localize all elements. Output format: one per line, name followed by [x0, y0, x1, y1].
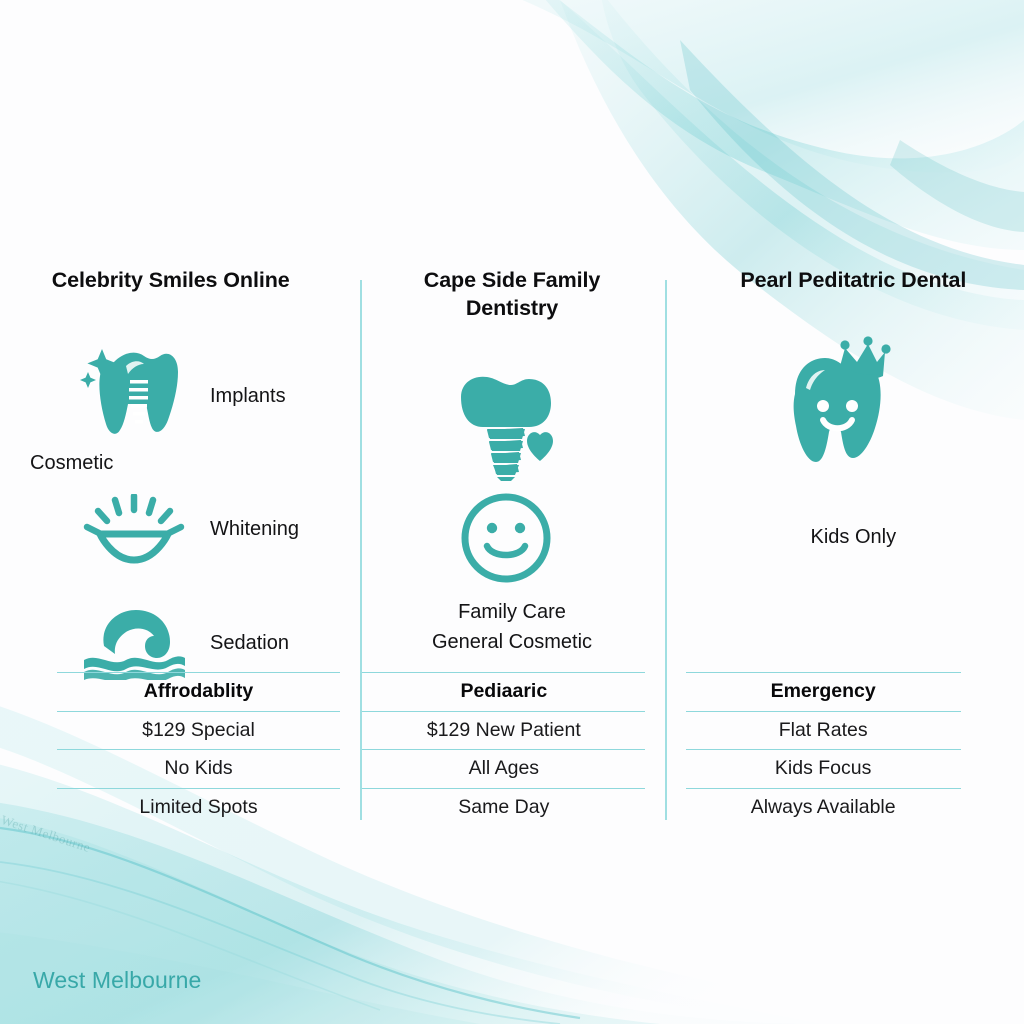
service-item-implant-heart[interactable] [453, 373, 563, 481]
table-cell: Limited Spots [139, 796, 257, 819]
table-cell: No Kids [164, 757, 232, 780]
service-tag-cosmetic: Cosmetic [30, 452, 113, 475]
practice-column-pearl-pediatric[interactable]: Pearl Peditatric Dental [683, 266, 1024, 826]
practice-title: Cape Side Family Dentistry [370, 266, 654, 323]
practice-title: Pearl Peditatric Dental [728, 266, 978, 294]
service-item-smiley[interactable] [459, 491, 553, 585]
service-list: Kids Only [683, 294, 1024, 624]
smiley-face-icon [459, 491, 553, 585]
service-item-whitening[interactable]: Whitening [82, 494, 299, 564]
service-list: Family Care General Cosmetic [341, 323, 682, 653]
wave-sedation-icon [82, 606, 186, 680]
table-row: No Kids [57, 749, 340, 788]
service-tag-general-cosmetic: General Cosmetic [341, 631, 682, 654]
table-cell: $129 Special [142, 719, 255, 742]
comparison-table: Affrodablity $129 Special No Kids Limite… [57, 672, 340, 826]
table-row: $129 New Patient [362, 711, 645, 750]
table-cell: $129 New Patient [427, 719, 581, 742]
service-label: Whitening [210, 518, 299, 541]
table-header-cell: Emergency [771, 680, 876, 703]
service-item-kids-mascot[interactable] [773, 332, 897, 468]
table-row: Kids Focus [686, 749, 961, 788]
crowned-tooth-mascot-icon [773, 332, 897, 468]
table-row: Flat Rates [686, 711, 961, 750]
comparison-columns: Celebrity Smiles Online [0, 266, 1024, 826]
table-cell: Always Available [751, 796, 896, 819]
implant-screw-heart-icon [453, 373, 563, 481]
footer-location-label: West Melbourne [33, 967, 201, 994]
practice-column-celebrity-smiles[interactable]: Celebrity Smiles Online [0, 266, 341, 826]
table-header-row: Pediaaric [362, 672, 645, 711]
table-row: Limited Spots [57, 788, 340, 827]
table-cell: Flat Rates [779, 719, 868, 742]
comparison-table: Emergency Flat Rates Kids Focus Always A… [686, 672, 961, 826]
table-header-cell: Pediaaric [460, 680, 547, 703]
service-list: Implants Cosmetic [0, 294, 341, 624]
table-cell: Same Day [458, 796, 549, 819]
service-tag-kids-only: Kids Only [683, 526, 1024, 549]
service-item-sedation[interactable]: Sedation [82, 606, 289, 680]
table-row: $129 Special [57, 711, 340, 750]
table-row: All Ages [362, 749, 645, 788]
smile-whitening-icon [82, 494, 186, 564]
table-row: Same Day [362, 788, 645, 827]
practice-title: Celebrity Smiles Online [40, 266, 302, 294]
infographic-canvas: West Melbourne Celebrity Smiles Online [0, 0, 1024, 1024]
service-tag-family-care: Family Care [341, 601, 682, 624]
sparkle-tooth-implant-icon [78, 348, 182, 444]
table-cell: Kids Focus [775, 757, 871, 780]
table-header-row: Affrodablity [57, 672, 340, 711]
service-label: Implants [210, 385, 286, 408]
table-cell: All Ages [469, 757, 539, 780]
service-item-implants[interactable]: Implants [78, 348, 286, 444]
comparison-table: Pediaaric $129 New Patient All Ages Same… [362, 672, 645, 826]
service-label: Sedation [210, 632, 289, 655]
table-header-cell: Affrodablity [144, 680, 253, 703]
table-row: Always Available [686, 788, 961, 827]
table-header-row: Emergency [686, 672, 961, 711]
practice-column-cape-side[interactable]: Cape Side Family Dentistry [341, 266, 682, 826]
